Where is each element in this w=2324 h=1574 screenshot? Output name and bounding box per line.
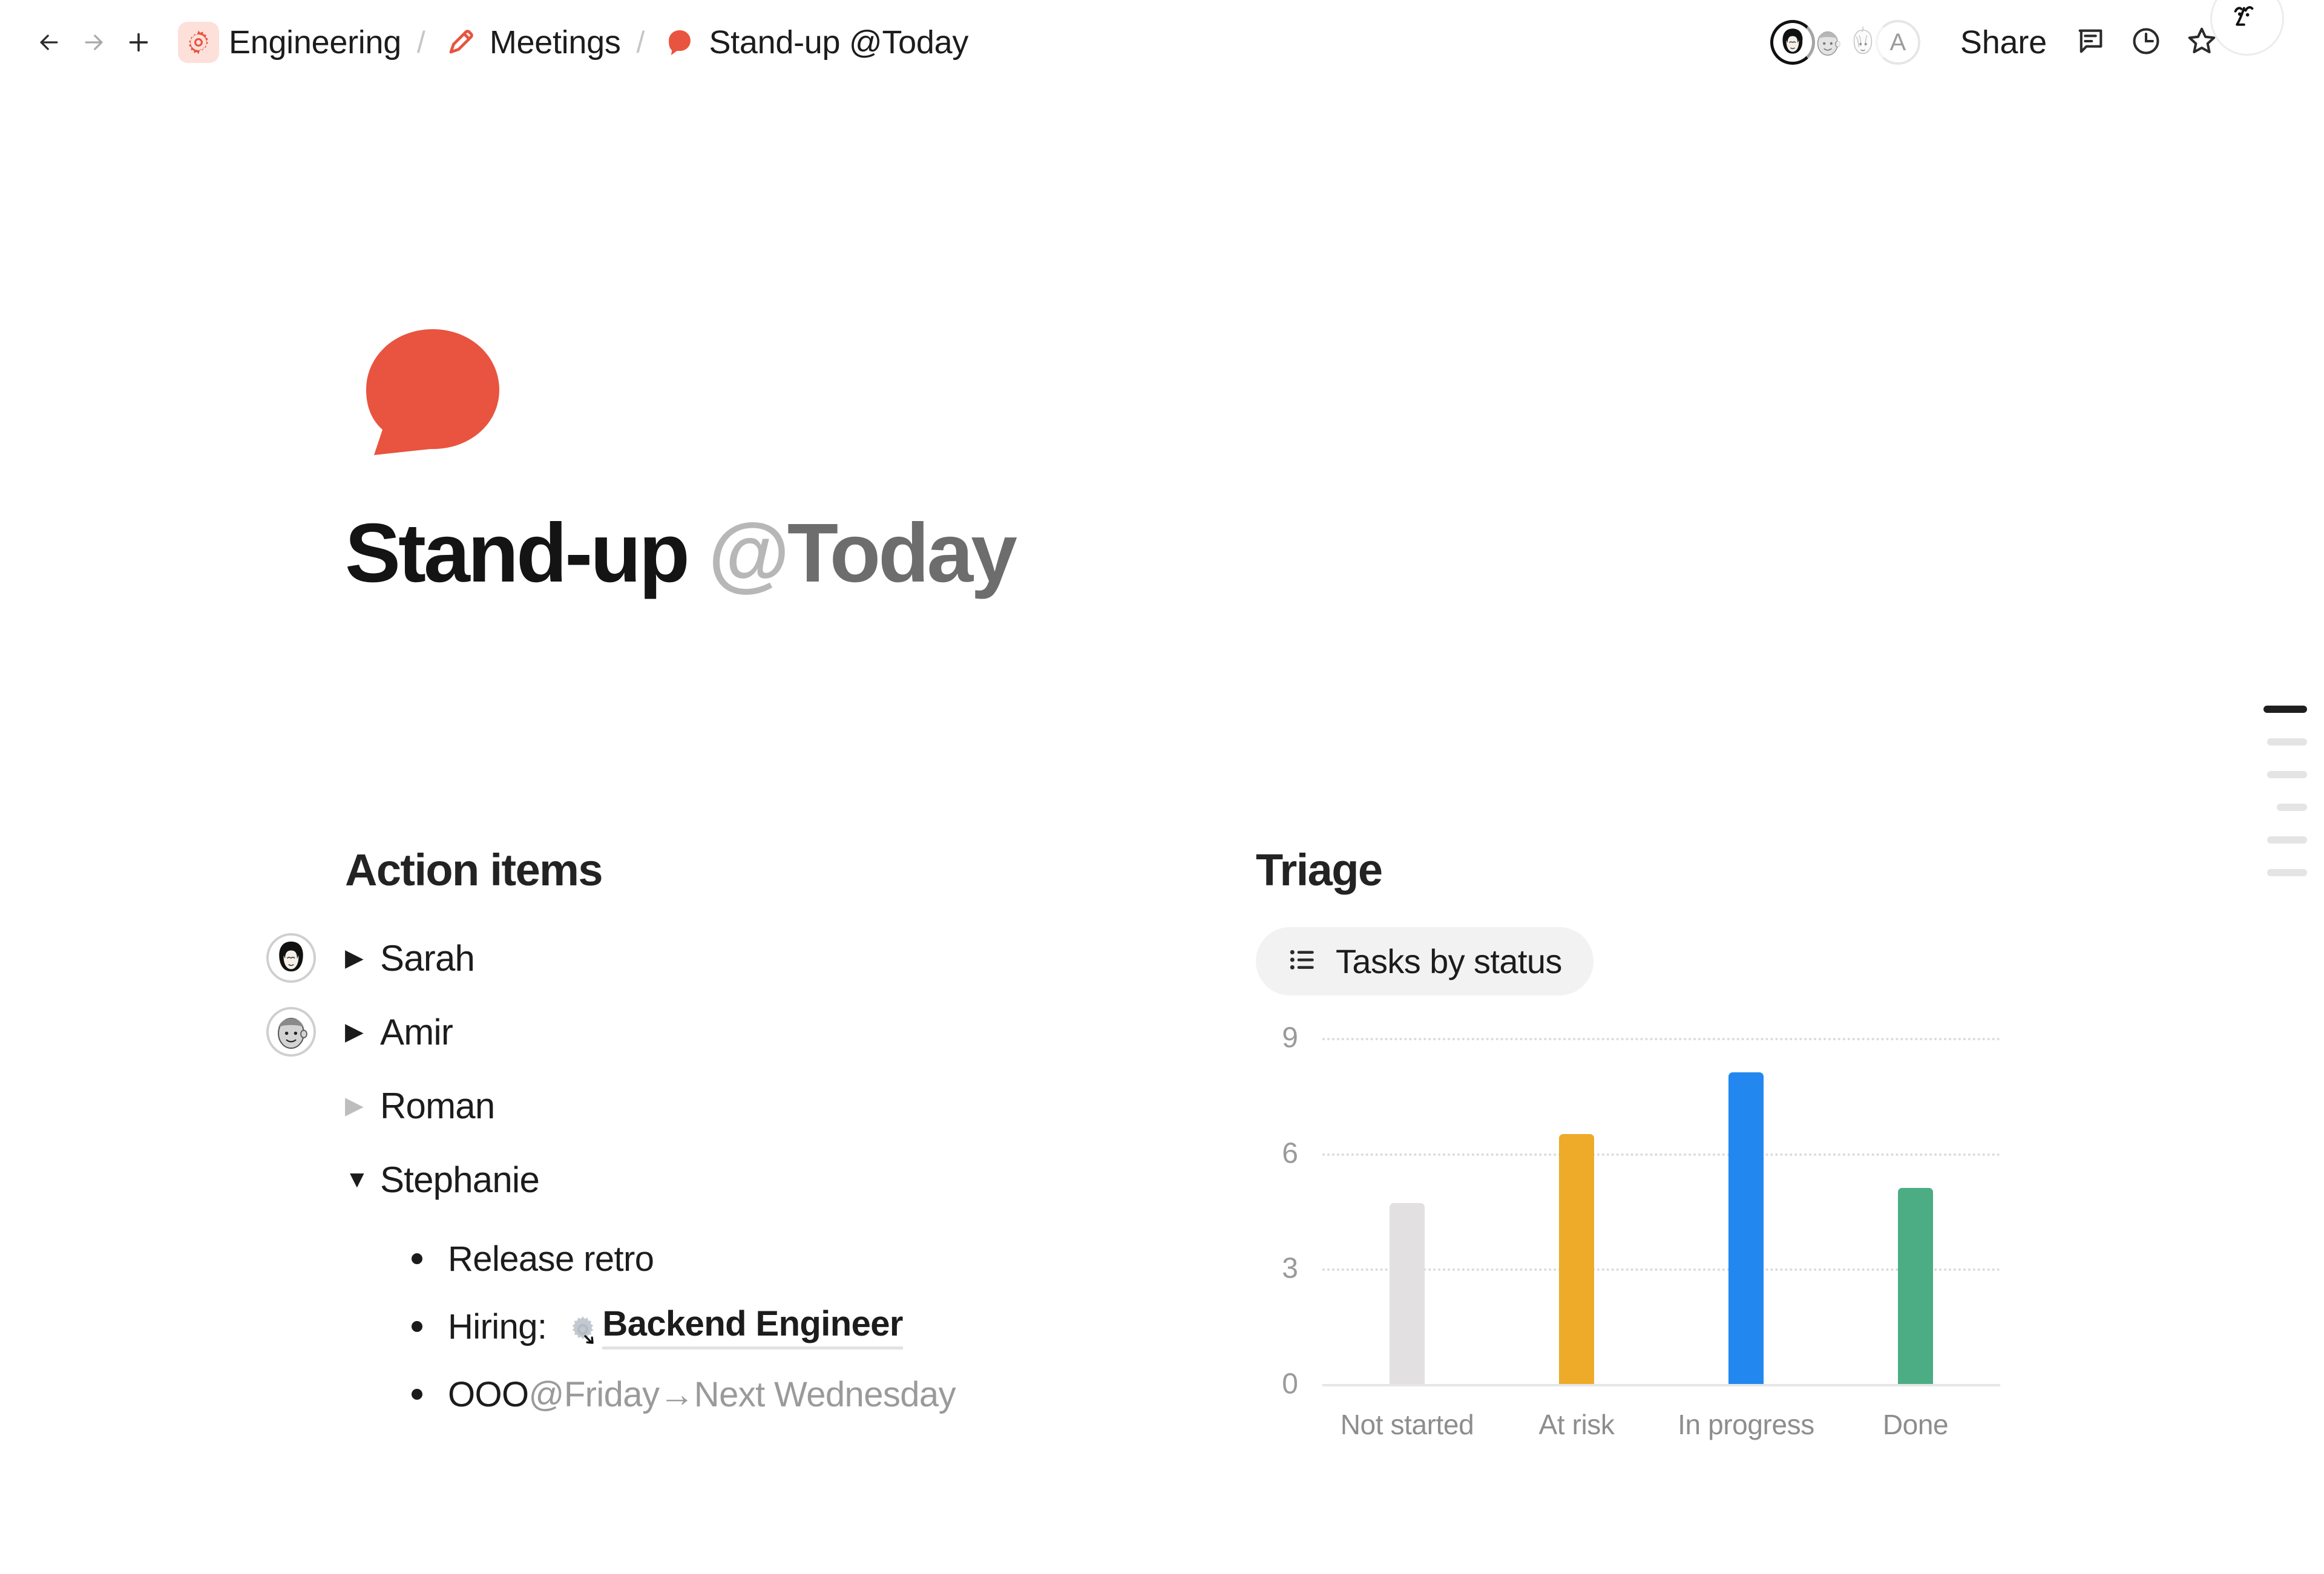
ooo-label: OOO	[448, 1374, 529, 1415]
breadcrumb: Engineering / Meetings / Stand-up @Today	[173, 18, 973, 67]
back-button[interactable]	[27, 20, 71, 65]
chart-bar-slot-0	[1322, 1038, 1492, 1384]
list-item[interactable]: Hiring: Backend Engineer	[412, 1293, 1162, 1360]
page-title-at: @	[708, 507, 787, 600]
top-bar: Engineering / Meetings / Stand-up @Today	[0, 0, 2324, 85]
chart-baseline	[1322, 1384, 2000, 1386]
breadcrumb-label-engineering: Engineering	[229, 24, 401, 61]
person-row-stephanie[interactable]: ▼ Stephanie	[345, 1143, 1162, 1216]
person-name-roman: Roman	[380, 1085, 494, 1127]
tasks-by-status-chart[interactable]: 9630 Not startedAt riskIn progressDone	[1256, 1038, 2000, 1425]
action-items-heading: Action items	[345, 844, 1162, 896]
date-from-label[interactable]: @Friday	[529, 1374, 660, 1415]
disclosure-triangle-sarah[interactable]: ▶	[345, 944, 375, 972]
gear-icon	[178, 22, 219, 63]
share-button[interactable]: Share	[1945, 18, 2063, 67]
date-arrow-icon: →	[659, 1374, 694, 1415]
person-row-roman[interactable]: ▶ Roman	[345, 1069, 1162, 1143]
avatar-amir-small	[266, 1007, 316, 1057]
list-item[interactable]: OOO @Friday → Next Wednesday	[412, 1360, 1162, 1428]
disclosure-triangle-stephanie[interactable]: ▼	[345, 1166, 375, 1193]
comments-button[interactable]	[2063, 15, 2118, 70]
outline-row-5[interactable]	[2247, 856, 2307, 889]
list-item[interactable]: Release retro	[412, 1225, 1162, 1293]
bullet-icon	[412, 1253, 422, 1264]
stephanie-sub-items: Release retro Hiring: Backend Engineer	[412, 1225, 1162, 1428]
breadcrumb-label-standup: Stand-up @Today	[709, 24, 968, 61]
chart-y-tick-3: 3	[1256, 1252, 1298, 1285]
avatar-stephanie[interactable]	[1840, 20, 1885, 65]
chart-bar-not-started[interactable]	[1390, 1203, 1425, 1384]
bullet-icon	[412, 1321, 422, 1332]
person-name-amir: Amir	[380, 1011, 453, 1053]
person-name-sarah: Sarah	[380, 937, 474, 979]
forward-button[interactable]	[71, 20, 116, 65]
hiring-prefix-label: Hiring:	[448, 1307, 547, 1347]
breadcrumb-label-meetings: Meetings	[490, 24, 621, 61]
outline-row-4[interactable]	[2247, 824, 2307, 856]
triage-section: Triage Tasks by status 9630 Not startedA…	[1256, 844, 2043, 1425]
chart-plot-area	[1322, 1038, 2000, 1384]
chart-y-tick-6: 6	[1256, 1136, 1298, 1170]
person-name-stephanie: Stephanie	[380, 1159, 539, 1201]
disclosure-triangle-amir[interactable]: ▶	[345, 1018, 375, 1046]
page-title-main: Stand-up	[345, 507, 708, 600]
bullet-icon	[412, 1389, 422, 1400]
tasks-by-status-view-button[interactable]: Tasks by status	[1256, 927, 1594, 995]
chart-bar-slot-3	[1831, 1038, 2000, 1384]
outline-row-3[interactable]	[2247, 791, 2307, 824]
chart-bar-slot-2	[1661, 1038, 1831, 1384]
chart-bar-in-progress[interactable]	[1728, 1072, 1764, 1384]
outline-row-0[interactable]	[2247, 693, 2307, 726]
outline-bar-4	[2267, 836, 2307, 844]
list-item-label: Release retro	[448, 1239, 654, 1279]
chart-x-label-0: Not started	[1322, 1408, 1492, 1441]
page-title-day: Today	[787, 507, 1015, 600]
person-row-sarah[interactable]: ▶ Sarah	[345, 921, 1162, 995]
collaborator-avatars: A	[1770, 20, 1920, 65]
breadcrumb-separator-2: /	[637, 25, 645, 60]
document-outline-minimap[interactable]	[2247, 693, 2307, 889]
outline-row-1[interactable]	[2247, 726, 2307, 758]
triage-heading: Triage	[1256, 844, 2043, 896]
breadcrumb-item-meetings[interactable]: Meetings	[436, 19, 626, 65]
speech-bubble-icon	[660, 23, 699, 62]
arrow-right-icon	[80, 29, 107, 56]
chart-x-label-3: Done	[1831, 1408, 2000, 1441]
disclosure-triangle-roman[interactable]: ▶	[345, 1092, 375, 1120]
history-clock-icon	[2130, 25, 2162, 60]
navigation-buttons	[27, 20, 161, 65]
tasks-by-status-label: Tasks by status	[1336, 942, 1562, 981]
page-title[interactable]: Stand-up @Today	[345, 511, 1015, 595]
breadcrumb-item-standup[interactable]: Stand-up @Today	[655, 19, 973, 65]
comments-icon	[2075, 25, 2106, 60]
pencil-icon	[441, 23, 480, 62]
outline-row-2[interactable]	[2247, 758, 2307, 791]
outline-bar-0	[2263, 706, 2307, 713]
backend-engineer-link[interactable]: Backend Engineer	[602, 1303, 902, 1349]
breadcrumb-separator: /	[417, 25, 425, 60]
chart-x-label-1: At risk	[1492, 1408, 1661, 1441]
history-button[interactable]	[2118, 15, 2174, 70]
outline-bar-2	[2267, 771, 2307, 778]
people-list: ▶ Sarah ▶ Amir ▶	[345, 921, 1162, 1428]
chart-bar-done[interactable]	[1898, 1188, 1933, 1384]
assistant-face-icon	[2228, 0, 2266, 39]
page-cover-icon[interactable]	[363, 327, 502, 457]
outline-bar-5	[2267, 869, 2307, 876]
chart-y-tick-0: 0	[1256, 1368, 1298, 1401]
outline-bar-1	[2267, 738, 2307, 746]
arrow-left-icon	[36, 29, 62, 56]
chart-bar-slot-1	[1492, 1038, 1661, 1384]
plus-icon	[125, 28, 153, 56]
breadcrumb-item-engineering[interactable]: Engineering	[173, 18, 406, 67]
list-view-icon	[1287, 945, 1318, 978]
add-page-button[interactable]	[116, 20, 161, 65]
person-row-amir[interactable]: ▶ Amir	[345, 995, 1162, 1069]
chart-x-label-2: In progress	[1661, 1408, 1831, 1441]
chart-y-tick-9: 9	[1256, 1021, 1298, 1055]
chart-bar-at-risk[interactable]	[1559, 1134, 1594, 1384]
avatar-sarah-small	[266, 933, 316, 983]
date-to-label[interactable]: Next Wednesday	[694, 1374, 956, 1415]
chart-x-axis-labels: Not startedAt riskIn progressDone	[1322, 1408, 2000, 1441]
outline-bar-3	[2277, 804, 2307, 811]
action-items-section: Action items ▶ Sarah	[345, 844, 1162, 1428]
gear-link-icon	[568, 1312, 597, 1341]
